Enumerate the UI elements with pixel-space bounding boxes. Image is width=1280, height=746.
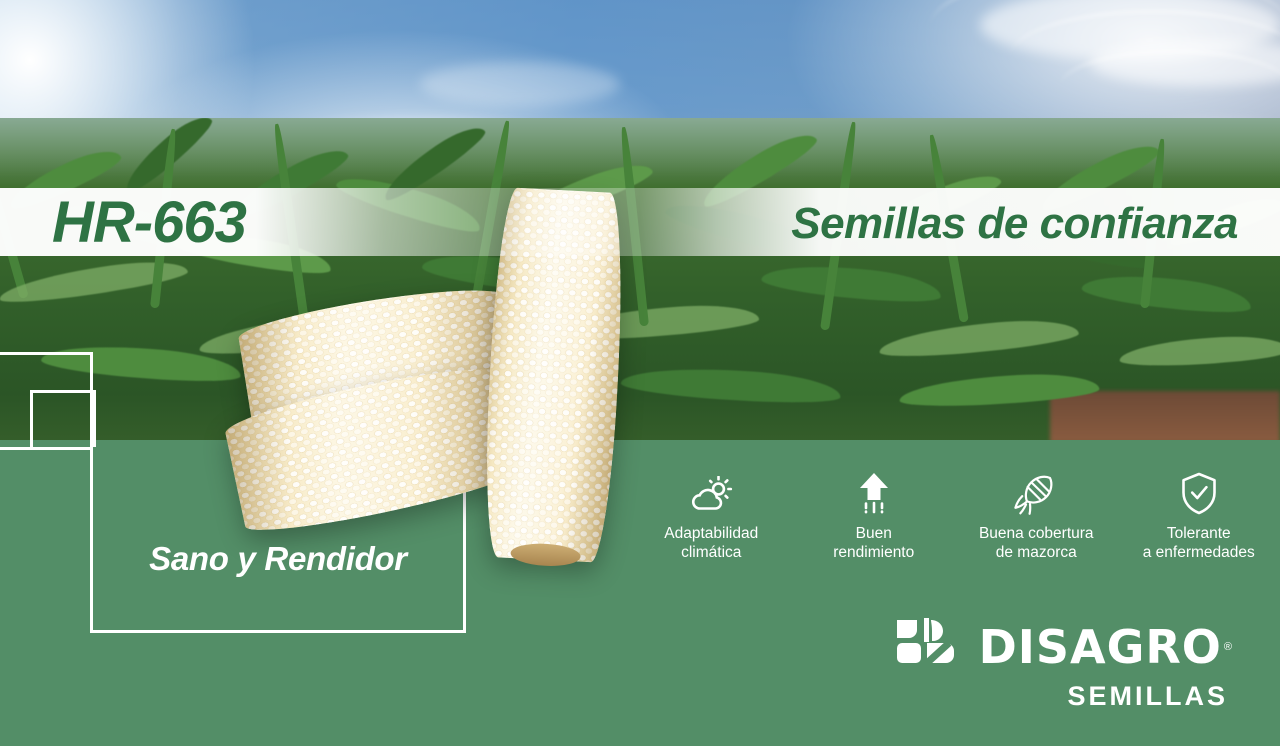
decor-frame-inner [30, 390, 96, 447]
product-code-title: HR-663 [52, 190, 246, 256]
brand-slogan: Semillas de confianza [791, 192, 1238, 256]
brand-wordmark: DISAGRO [979, 624, 1222, 670]
feature-item: Tolerante a enfermedades [1118, 470, 1280, 580]
feature-label-line1: Buena cobertura [979, 524, 1094, 543]
feature-label-line2: a enfermedades [1143, 543, 1255, 562]
cornfield-photo [0, 118, 1280, 443]
feature-item: Buena cobertura de mazorca [955, 470, 1118, 580]
soil-strip [1050, 391, 1280, 443]
feature-list: Adaptabilidad climática Buen rendimiento [630, 470, 1280, 580]
brand-subtitle: SEMILLAS [912, 681, 1232, 712]
registered-mark: ® [1224, 641, 1232, 653]
feature-label-line1: Tolerante [1143, 524, 1255, 543]
product-tagline: Sano y Rendidor [118, 540, 438, 578]
corn-cob-husk-icon [1013, 470, 1059, 516]
up-arrow-growth-icon [854, 470, 894, 516]
feature-label-line1: Buen [833, 524, 914, 543]
feature-item: Adaptabilidad climática [630, 470, 793, 580]
feature-item: Buen rendimiento [793, 470, 956, 580]
feature-label-line2: de mazorca [979, 543, 1094, 562]
feature-label-line2: climática [664, 543, 758, 562]
seed-product-banner: HR-663 Semillas de confianza Sano y Rend… [0, 0, 1280, 746]
partly-cloudy-sun-icon [688, 470, 734, 516]
disagro-sprout-icon [891, 616, 977, 677]
shield-check-icon [1179, 470, 1219, 516]
feature-label-line1: Adaptabilidad [664, 524, 758, 543]
brand-logo: DISAGRO ® SEMILLAS [912, 616, 1232, 712]
feature-label-line2: rendimiento [833, 543, 914, 562]
